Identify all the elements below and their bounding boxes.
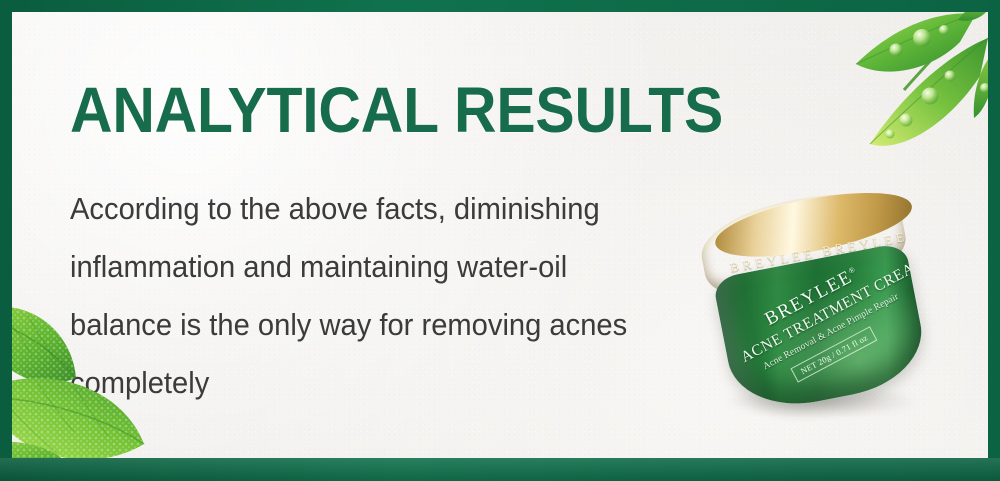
body-copy: According to the above facts, diminishin… [70,180,690,412]
body-line: According to the above facts, diminishin… [70,180,690,238]
tea-leaves-decoration [744,12,988,188]
promo-banner: ANALYTICAL RESULTS According to the abov… [0,0,1000,481]
page-title: ANALYTICAL RESULTS [70,78,723,142]
body-line: inflammation and maintaining water-oil [70,238,690,296]
body-line: completely [70,354,690,412]
content-panel: ANALYTICAL RESULTS According to the abov… [12,12,988,458]
product-image: BREYLEE BREYLEE BREYLEE® ACNE TREATMENT … [702,188,952,428]
body-line: balance is the only way for removing acn… [70,296,690,354]
cream-jar: BREYLEE BREYLEE BREYLEE® ACNE TREATMENT … [679,167,970,450]
